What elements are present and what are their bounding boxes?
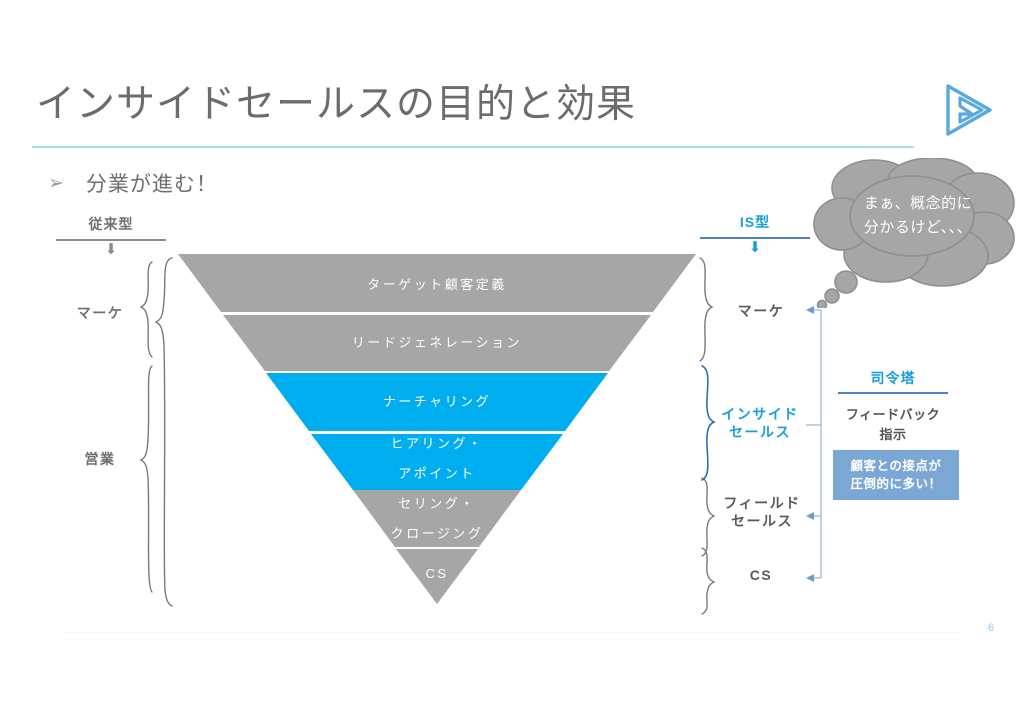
bullet-text: 分業が進む！ — [86, 168, 218, 198]
funnel-band-5 — [353, 490, 521, 547]
slide-canvas: インサイドセールスの目的と効果 ➢ 分業が進む！ 従来型 ⬇ IS型 ⬇ — [0, 0, 1024, 724]
right-group-label-marketing: マーケ — [716, 302, 806, 320]
right-group-label-cs: CS — [716, 566, 806, 584]
command-center-heading: 司令塔 — [838, 368, 948, 394]
funnel-band-2 — [223, 315, 651, 371]
column-heading-inside-sales: IS型 ⬇ — [700, 212, 810, 253]
inside-sales-label: IS型 — [700, 212, 810, 237]
funnel-band-6 — [396, 549, 478, 604]
arrow-head-cs — [806, 574, 814, 582]
page-number: 6 — [988, 622, 994, 634]
command-center-label: 司令塔 — [838, 368, 948, 392]
left-group-label-sales: 営業 — [58, 450, 142, 468]
down-arrow-icon: ⬇ — [56, 245, 166, 255]
footer-divider — [64, 632, 960, 633]
play-triangle-logo — [938, 82, 996, 138]
page-title: インサイドセールスの目的と効果 — [36, 80, 636, 130]
bullet-row: ➢ 分業が進む！ — [48, 168, 218, 198]
column-heading-legacy: 従来型 ⬇ — [56, 214, 166, 255]
funnel-band-3 — [266, 373, 608, 431]
funnel-band-1 — [178, 254, 696, 312]
funnel-band-4 — [311, 434, 563, 490]
customer-contact-badge: 顧客との接点が 圧倒的に多い！ — [833, 450, 959, 500]
title-divider — [32, 146, 914, 148]
command-center-underline — [838, 392, 948, 394]
inverted-funnel-diagram: ターゲット顧客定義 リードジェネレーション ナーチャリング ヒアリング・ アポイ… — [178, 254, 696, 604]
left-group-label-marketing: マーケ — [58, 304, 142, 322]
right-group-label-inside-sales: インサイド セールス — [712, 405, 808, 441]
right-group-label-field-sales: フィールド セールス — [714, 494, 810, 530]
legacy-label: 従来型 — [56, 214, 166, 239]
thought-cloud-text: まぁ、概念的に 分かるけど、、、 — [838, 192, 998, 240]
down-arrow-icon: ⬇ — [700, 243, 810, 253]
feedback-text: フィードバック 指示 — [830, 405, 956, 445]
funnel-shape — [178, 254, 696, 604]
bullet-arrow-icon: ➢ — [48, 174, 64, 193]
